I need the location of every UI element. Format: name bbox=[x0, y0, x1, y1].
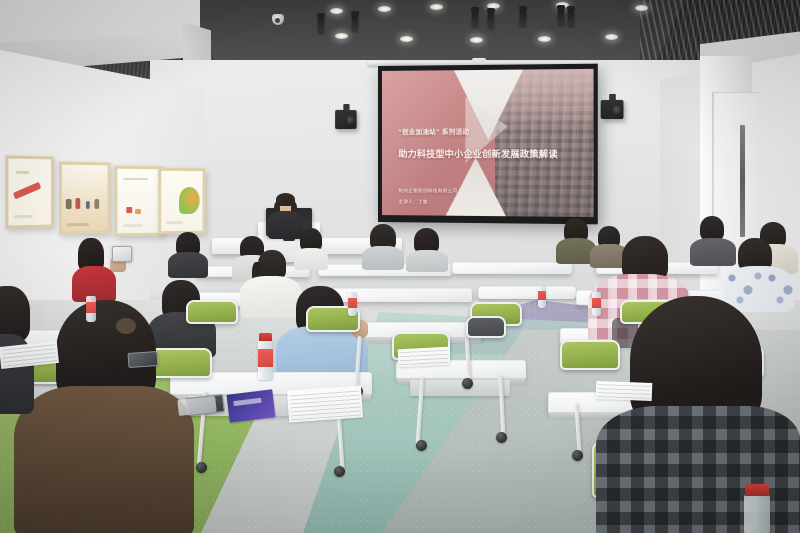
water-bottle bbox=[86, 296, 96, 322]
slide-main-title: 助力科技型中小企业创新发展政策解读 bbox=[398, 147, 557, 160]
printed-handout bbox=[398, 347, 451, 368]
downlight bbox=[400, 36, 413, 42]
downlight bbox=[470, 37, 483, 43]
track-spotlight bbox=[472, 10, 478, 27]
track-spotlight bbox=[558, 8, 564, 25]
handout-text-lines bbox=[598, 383, 650, 399]
desk-caster bbox=[196, 462, 207, 473]
water-bottle bbox=[348, 292, 357, 316]
track-spotlight bbox=[520, 9, 526, 26]
bottle-label bbox=[592, 298, 601, 308]
wall-poster-2 bbox=[59, 161, 110, 234]
wall-speaker-left bbox=[335, 110, 357, 129]
handout-text-lines bbox=[1, 343, 57, 367]
bottle-label bbox=[348, 298, 357, 308]
track-spotlight bbox=[352, 14, 358, 31]
bottle-label bbox=[538, 291, 546, 300]
handout-text-lines bbox=[400, 349, 449, 365]
desk-caster bbox=[462, 378, 473, 389]
desk-caster bbox=[416, 440, 427, 451]
water-bottle bbox=[592, 292, 601, 316]
desk-caster bbox=[572, 450, 583, 461]
chair-green[interactable] bbox=[186, 300, 238, 324]
downlight bbox=[538, 36, 551, 42]
desk-row3-right bbox=[478, 286, 576, 299]
printed-handout bbox=[287, 385, 363, 422]
bottle-cap bbox=[259, 333, 272, 341]
presentation-slide: “创业加油站” 系列活动 助力科技型中小企业创新发展政策解读 杭州正策智创科技有… bbox=[382, 69, 594, 217]
brochure bbox=[226, 389, 275, 422]
slide-series-label: “创业加油站” 系列活动 bbox=[398, 125, 469, 135]
downlight bbox=[635, 5, 648, 11]
handout-text-lines bbox=[289, 388, 361, 421]
bottle-label bbox=[86, 302, 96, 313]
desk-caster bbox=[334, 466, 345, 477]
wall-poster-4 bbox=[158, 168, 205, 234]
wall-poster-3 bbox=[114, 166, 163, 237]
track-spotlight bbox=[318, 16, 324, 33]
track-spotlight bbox=[568, 9, 574, 26]
wall-speaker-right bbox=[601, 100, 624, 119]
bottle-label bbox=[258, 349, 273, 367]
seminar-room-photo: “创业加油站” 系列活动 助力科技型中小企业创新发展政策解读 杭州正策智创科技有… bbox=[0, 0, 800, 533]
smartphone[interactable] bbox=[128, 351, 159, 368]
slide-organizer: 杭州正策智创科技有限公司 bbox=[398, 188, 457, 194]
downlight bbox=[330, 8, 343, 14]
chair-green[interactable] bbox=[150, 348, 212, 378]
track-spotlight bbox=[488, 11, 494, 28]
downlight bbox=[378, 6, 391, 12]
bottle-cap bbox=[745, 484, 769, 496]
desk-row3-center bbox=[320, 288, 472, 302]
projector-screen[interactable]: “创业加油站” 系列活动 助力科技型中小企业创新发展政策解读 杭州正策智创科技有… bbox=[378, 64, 598, 225]
slide-presenter: 主讲人：丁敏 bbox=[398, 199, 427, 205]
desk-caster bbox=[496, 432, 507, 443]
water-bottle bbox=[538, 286, 546, 308]
hair-clip bbox=[116, 318, 136, 334]
downlight bbox=[335, 33, 348, 39]
printed-handout bbox=[596, 381, 653, 401]
downlight bbox=[430, 4, 443, 10]
wall-poster-1 bbox=[5, 155, 53, 228]
door-vent-slot bbox=[740, 125, 745, 237]
chair-dark[interactable] bbox=[466, 316, 506, 338]
chair-green[interactable] bbox=[560, 340, 620, 370]
smartphone-raised bbox=[112, 246, 132, 262]
downlight bbox=[605, 34, 618, 40]
water-bottle bbox=[744, 494, 770, 533]
water-bottle bbox=[258, 340, 273, 380]
desk-modesty-panel bbox=[410, 380, 510, 396]
desk-back-right bbox=[452, 262, 572, 274]
